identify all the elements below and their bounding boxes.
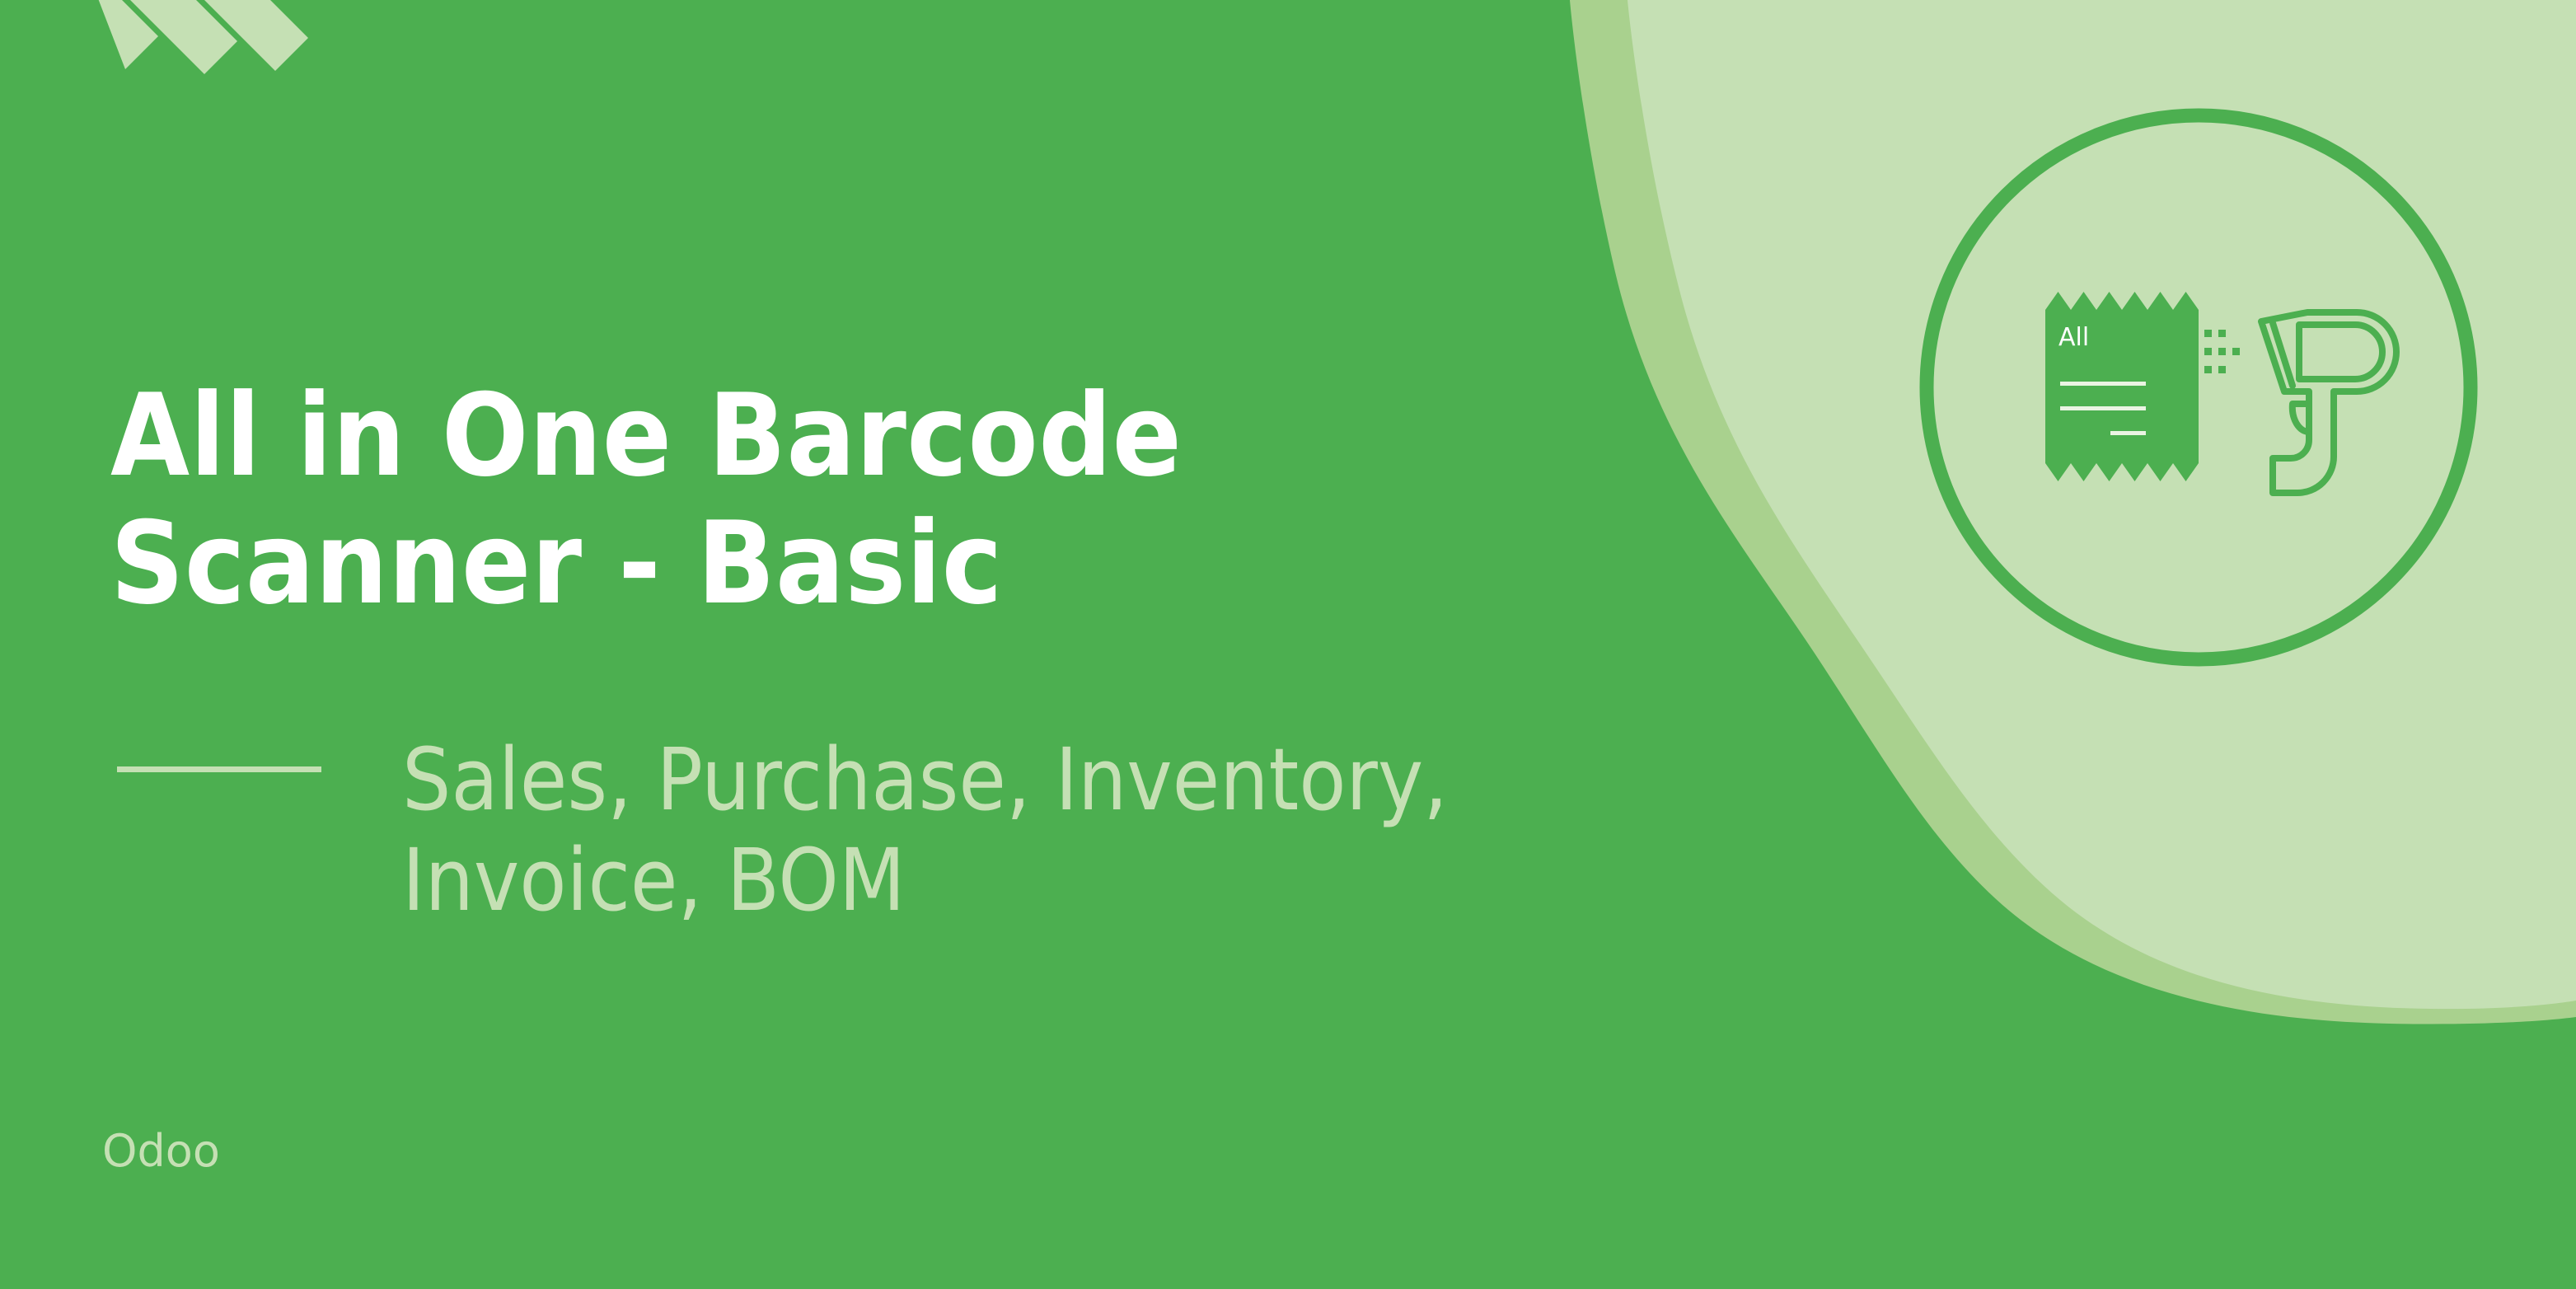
page-title: All in One Barcode Scanner - Basic bbox=[110, 373, 1396, 627]
banner-root: All bbox=[0, 0, 2576, 1289]
brand-label: Odoo bbox=[102, 1129, 220, 1174]
page-subtitle: Sales, Purchase, Inventory, Invoice, BOM bbox=[402, 730, 1683, 930]
text-content: All in One Barcode Scanner - Basic Sales… bbox=[0, 0, 2576, 1289]
subtitle-row: Sales, Purchase, Inventory, Invoice, BOM bbox=[117, 730, 1683, 930]
subtitle-dash-rule bbox=[117, 766, 321, 772]
